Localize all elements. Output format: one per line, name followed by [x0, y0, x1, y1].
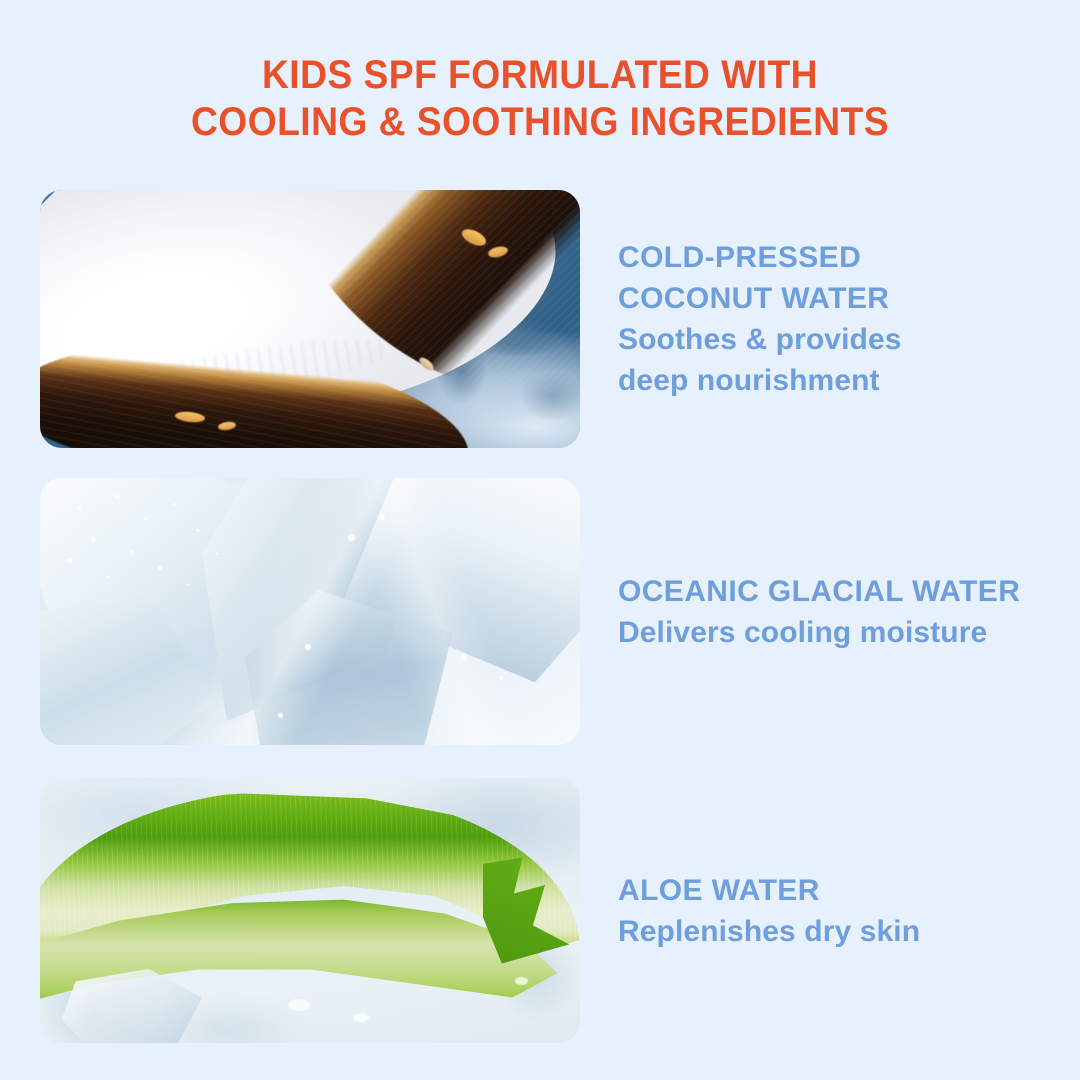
glacial-ice-photo: [40, 478, 580, 745]
ingredient-title: ALOE WATER: [618, 870, 1030, 911]
page-title-line-1: KIDS SPF FORMULATED WITH: [38, 52, 1042, 99]
ice-highlight: [40, 478, 580, 745]
ingredient-copy-aloe: ALOE WATER Replenishes dry skin: [580, 870, 1030, 952]
ingredient-description: Delivers cooling moisture: [618, 612, 1030, 653]
coconut-photo: [40, 190, 580, 448]
ingredient-title: OCEANIC GLACIAL WATER: [618, 571, 1030, 612]
ingredient-row-coconut: COLD-PRESSED COCONUT WATER Soothes & pro…: [40, 190, 1030, 448]
ingredient-copy-coconut: COLD-PRESSED COCONUT WATER Soothes & pro…: [580, 237, 1030, 401]
page-title: KIDS SPF FORMULATED WITH COOLING & SOOTH…: [38, 52, 1042, 146]
aloe-photo: [40, 778, 580, 1043]
ingredient-description: Replenishes dry skin: [618, 911, 1030, 952]
water-droplet: [353, 1013, 369, 1022]
ingredient-title: COLD-PRESSED COCONUT WATER: [618, 237, 1030, 319]
ingredient-row-aloe: ALOE WATER Replenishes dry skin: [40, 778, 1030, 1043]
water-droplet: [515, 977, 528, 985]
ingredient-copy-glacial-water: OCEANIC GLACIAL WATER Delivers cooling m…: [580, 571, 1030, 653]
page-title-line-2: COOLING & SOOTHING INGREDIENTS: [38, 99, 1042, 146]
ingredient-row-glacial-water: OCEANIC GLACIAL WATER Delivers cooling m…: [40, 478, 1030, 745]
ingredient-description: Soothes & provides deep nourishment: [618, 319, 1030, 401]
